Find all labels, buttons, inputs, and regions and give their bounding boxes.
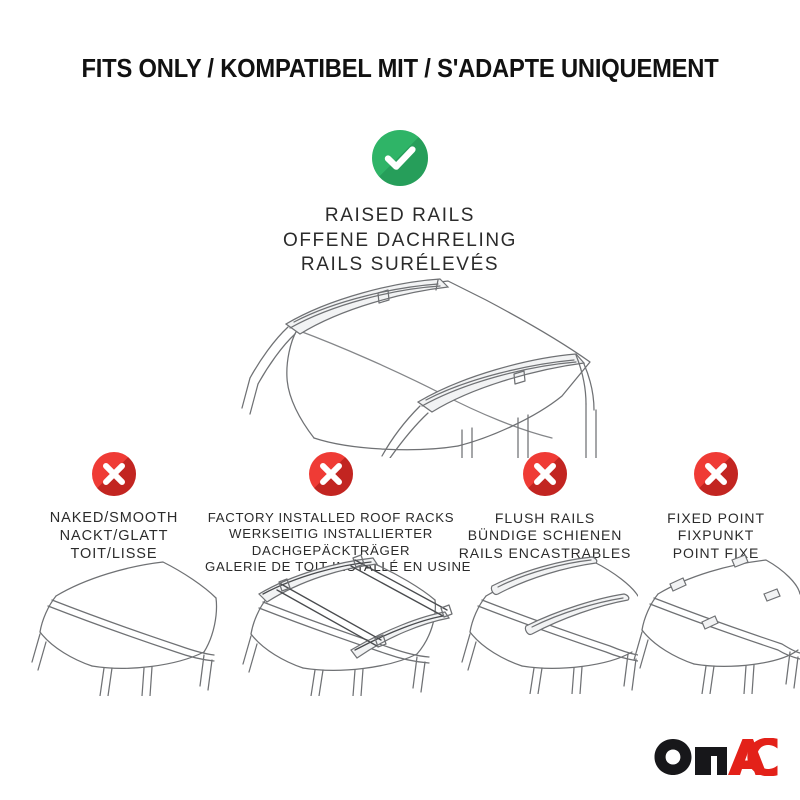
compatibility-infographic: FITS ONLY / KOMPATIBEL MIT / S'ADAPTE UN…	[0, 0, 800, 800]
x-circle-icon	[523, 452, 567, 496]
x-circle-icon	[694, 452, 738, 496]
compatible-label-de: OFFENE DACHRELING	[0, 229, 800, 254]
car-roof-with-factory-crossbars-illustration	[205, 544, 457, 701]
incompatible-item-factory-roof-racks: FACTORY INSTALLED ROOF RACKS WERKSEITIG …	[205, 452, 457, 575]
item-label-en: FLUSH RAILS	[452, 510, 638, 527]
item-label-de1: WERKSEITIG INSTALLIERTER	[205, 526, 457, 542]
logo-letter-m	[695, 747, 727, 775]
check-circle-icon	[372, 130, 428, 186]
compatible-labels: RAISED RAILS OFFENE DACHRELING RAILS SUR…	[0, 204, 800, 278]
item-label-en: FIXED POINT	[632, 510, 800, 527]
compatible-label-fr: RAILS SURÉLEVÉS	[0, 253, 800, 278]
compatible-section: RAISED RAILS OFFENE DACHRELING RAILS SUR…	[0, 130, 800, 278]
car-roof-with-fixed-points-illustration	[632, 552, 800, 699]
incompatible-sections: NAKED/SMOOTH NACKT/GLATT TOIT/LISSE	[0, 452, 800, 702]
raised-rail-right	[382, 354, 594, 458]
incompatible-item-flush-rails: FLUSH RAILS BÜNDIGE SCHIENEN RAILS ENCAS…	[452, 452, 638, 562]
flush-rails	[491, 557, 628, 634]
page-title: FITS ONLY / KOMPATIBEL MIT / S'ADAPTE UN…	[28, 55, 772, 84]
item-label-de: FIXPUNKT	[632, 527, 800, 544]
item-label-en: NAKED/SMOOTH	[8, 510, 220, 528]
car-roof-bare-illustration	[8, 556, 220, 701]
car-roof-with-raised-rails-illustration	[190, 278, 620, 458]
incompatible-item-fixed-point: FIXED POINT FIXPUNKT POINT FIXE	[632, 452, 800, 562]
x-circle-icon	[309, 452, 353, 496]
item-label-de: BÜNDIGE SCHIENEN	[452, 527, 638, 544]
compatible-label-en: RAISED RAILS	[0, 204, 800, 229]
item-label-en: FACTORY INSTALLED ROOF RACKS	[205, 510, 457, 526]
x-circle-icon	[92, 452, 136, 496]
incompatible-item-naked-smooth: NAKED/SMOOTH NACKT/GLATT TOIT/LISSE	[8, 452, 220, 564]
car-roof-with-flush-rails-illustration	[452, 552, 638, 699]
omac-logo	[654, 738, 778, 776]
logo-letter-o	[655, 739, 692, 775]
factory-cross-bars	[277, 555, 452, 647]
raised-rail-left	[250, 279, 448, 384]
item-label-de: NACKT/GLATT	[8, 528, 220, 546]
